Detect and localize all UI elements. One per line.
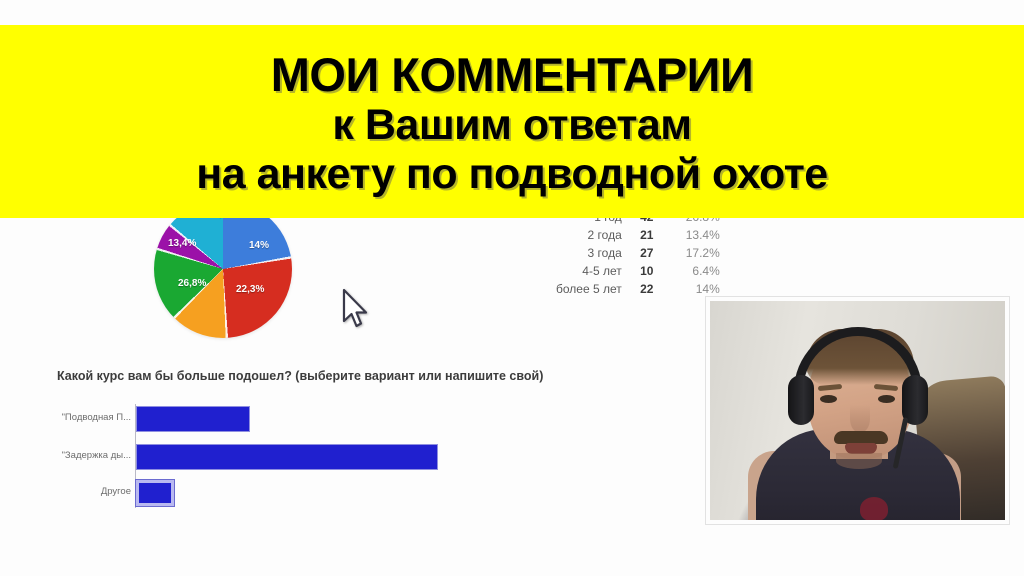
title-banner: МОИ КОММЕНТАРИИ к Вашим ответам на анкет…	[0, 25, 1024, 218]
eye-left	[820, 395, 837, 403]
screen-recording-frame: 14% 22,3% 26,8% 13,4% 17,2% 1 год 42 26.…	[0, 0, 1024, 576]
row-count: 27	[634, 244, 674, 262]
pie-chart[interactable]: 14% 22,3% 26,8% 13,4% 17,2%	[154, 200, 292, 338]
row-label: 4-5 лет	[556, 262, 634, 280]
bar-label: "Подводная П...	[0, 412, 131, 423]
table-row: 4-5 лет 10 6.4%	[556, 262, 720, 280]
row-count: 10	[634, 262, 674, 280]
row-percent: 6.4%	[674, 262, 720, 280]
pie-chart-graphic	[154, 200, 292, 338]
bar-label: Другое	[0, 486, 131, 497]
headphone-earcup-left	[788, 375, 814, 425]
bar-label: "Задержка ды...	[0, 450, 131, 461]
pie-slice-label-cyan: 14%	[249, 240, 269, 251]
row-label: более 5 лет	[556, 280, 634, 298]
row-count: 22	[634, 280, 674, 298]
pie-slice-label-blue: 22,3%	[236, 284, 264, 295]
shirt-logo	[860, 497, 888, 520]
title-line-3: на анкету по подводной охоте	[196, 153, 827, 196]
response-breakdown-table: 1 год 42 26.8% 2 года 21 13.4% 3 года 27…	[556, 208, 720, 298]
bar-fill[interactable]	[136, 406, 250, 432]
table-row: 2 года 21 13.4%	[556, 226, 720, 244]
bar-chart[interactable]: "Подводная П... "Задержка ды... Другое	[57, 400, 517, 512]
table-row: более 5 лет 22 14%	[556, 280, 720, 298]
webcam-video-feed	[710, 301, 1005, 520]
row-count: 21	[634, 226, 674, 244]
title-line-2: к Вашим ответам	[332, 104, 691, 147]
row-percent: 13.4%	[674, 226, 720, 244]
eye-right	[878, 395, 895, 403]
pie-slice-label-red: 26,8%	[178, 278, 206, 289]
bar-chart-row: Другое	[57, 478, 517, 508]
title-line-1: МОИ КОММЕНТАРИИ	[271, 51, 754, 98]
nose	[850, 405, 870, 433]
mouse-pointer-icon	[341, 288, 369, 330]
bar-fill[interactable]	[136, 444, 438, 470]
row-percent: 17.2%	[674, 244, 720, 262]
bar-chart-row: "Задержка ды...	[57, 442, 517, 472]
bar-chart-question: Какой курс вам бы больше подошел? (выбер…	[57, 369, 543, 383]
table-row: 3 года 27 17.2%	[556, 244, 720, 262]
chin	[836, 453, 882, 469]
row-label: 3 года	[556, 244, 634, 262]
bar-chart-row: "Подводная П...	[57, 404, 517, 434]
webcam-overlay[interactable]	[706, 297, 1009, 524]
row-percent: 14%	[674, 280, 720, 298]
bar-fill-selected[interactable]	[136, 480, 174, 506]
row-label: 2 года	[556, 226, 634, 244]
pie-slice-label-orange: 13,4%	[168, 238, 196, 249]
